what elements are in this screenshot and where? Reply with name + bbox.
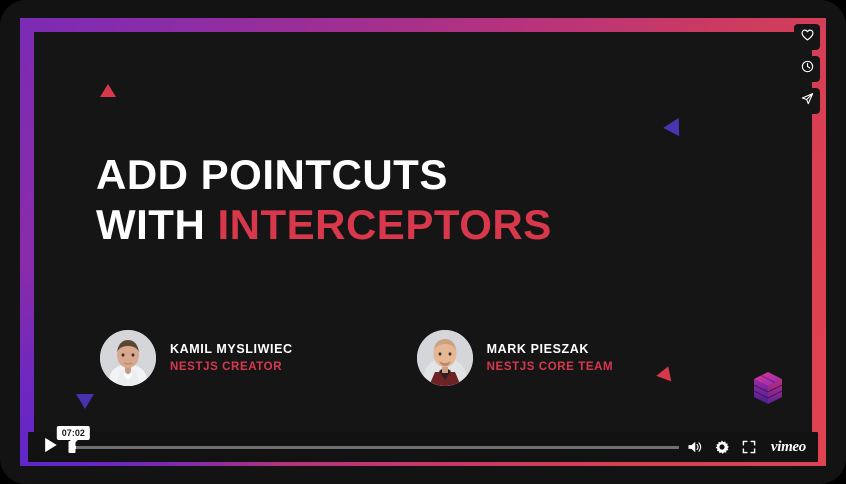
speaker-name: KAMIL MYSLIWIEC [170,342,293,358]
heart-icon [801,28,814,46]
play-icon [43,437,58,458]
cube-logo-icon [752,370,784,406]
speaker-name: MARK PIESZAK [487,342,614,358]
title-line-1: ADD POINTCUTS [96,150,552,200]
triangle-violet-rotated-icon [663,114,686,137]
fullscreen-icon[interactable] [742,440,756,454]
avatar [417,330,473,386]
speaker-text: MARK PIESZAK NESTJS CORE TEAM [487,342,614,375]
like-button[interactable] [794,24,820,50]
triangle-red-rotated-icon [656,364,675,382]
settings-gear-icon[interactable] [715,440,729,454]
player-control-bar: 07:02 [28,432,818,462]
clock-icon [801,60,814,78]
speaker-role: NESTJS CREATOR [170,360,293,374]
video-page: ADD POINTCUTS WITH INTERCEPTORS [0,0,846,484]
right-controls: vimeo [687,439,818,456]
avatar [100,330,156,386]
volume-icon[interactable] [687,440,702,454]
title-line-2-accent: INTERCEPTORS [217,201,551,248]
watch-later-button[interactable] [794,56,820,82]
speaker-item: MARK PIESZAK NESTJS CORE TEAM [417,330,614,386]
title-line-2-white: WITH [96,201,217,248]
progress-buffer [72,446,679,449]
vimeo-logo[interactable]: vimeo [771,439,806,456]
speaker-item: KAMIL MYSLIWIEC NESTJS CREATOR [100,330,293,386]
video-slide[interactable]: ADD POINTCUTS WITH INTERCEPTORS [34,32,812,452]
speaker-list: KAMIL MYSLIWIEC NESTJS CREATOR [100,330,613,386]
title-line-2: WITH INTERCEPTORS [96,200,552,250]
action-button-group [794,24,820,114]
time-tooltip: 07:02 [57,426,90,440]
triangle-red-up-icon [100,84,116,97]
share-icon [801,92,814,110]
progress-bar[interactable]: 07:02 [72,432,687,462]
slide-title: ADD POINTCUTS WITH INTERCEPTORS [96,150,552,250]
progress-track[interactable]: 07:02 [72,446,679,449]
speaker-text: KAMIL MYSLIWIEC NESTJS CREATOR [170,342,293,375]
share-button[interactable] [794,88,820,114]
speaker-role: NESTJS CORE TEAM [487,360,614,374]
triangle-violet-down-icon [76,394,94,409]
